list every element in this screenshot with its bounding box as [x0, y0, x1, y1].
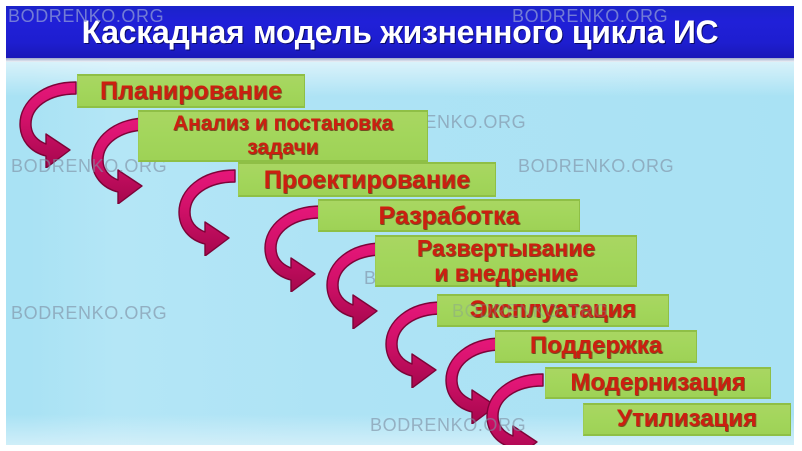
stage-box-deployment[interactable]: Развертывание и внедрение	[375, 235, 637, 287]
stage-label: Модернизация	[570, 371, 745, 396]
watermark: BODRENKO.ORG	[518, 156, 674, 177]
stage-box-modernization[interactable]: Модернизация	[545, 367, 771, 399]
stage-label: Поддержка	[530, 334, 662, 359]
stage-box-analysis[interactable]: Анализ и постановка задачи	[138, 110, 428, 162]
stage-label: Разработка	[379, 203, 520, 229]
watermark: BODRENKO.ORG	[512, 6, 668, 27]
diagram-area: BODRENKO.ORG BODRENKO.ORG BODRENKO.ORG B…	[6, 62, 794, 445]
frame-edge-right	[794, 0, 802, 451]
stage-label: Развертывание и внедрение	[417, 236, 595, 286]
watermark: BODRENKO.ORG	[370, 415, 526, 436]
slide-canvas: Каскадная модель жизненного цикла ИС	[0, 0, 802, 451]
stage-box-development[interactable]: Разработка	[318, 199, 580, 232]
watermark: BODRENKO.ORG	[8, 6, 164, 27]
stage-label: Проектирование	[264, 167, 470, 193]
stage-box-design[interactable]: Проектирование	[238, 162, 496, 197]
watermark: BODRENKO.ORG	[11, 303, 167, 324]
stage-label: Анализ и постановка задачи	[173, 112, 393, 159]
stage-label: Планирование	[100, 78, 282, 104]
stage-box-planning[interactable]: Планирование	[77, 74, 305, 108]
watermark: BODRENKO.ORG	[452, 301, 608, 322]
frame-edge-bottom	[0, 445, 802, 451]
stage-box-disposal[interactable]: Утилизация	[583, 403, 791, 436]
stage-box-support[interactable]: Поддержка	[495, 330, 697, 363]
stage-label: Утилизация	[617, 407, 757, 432]
